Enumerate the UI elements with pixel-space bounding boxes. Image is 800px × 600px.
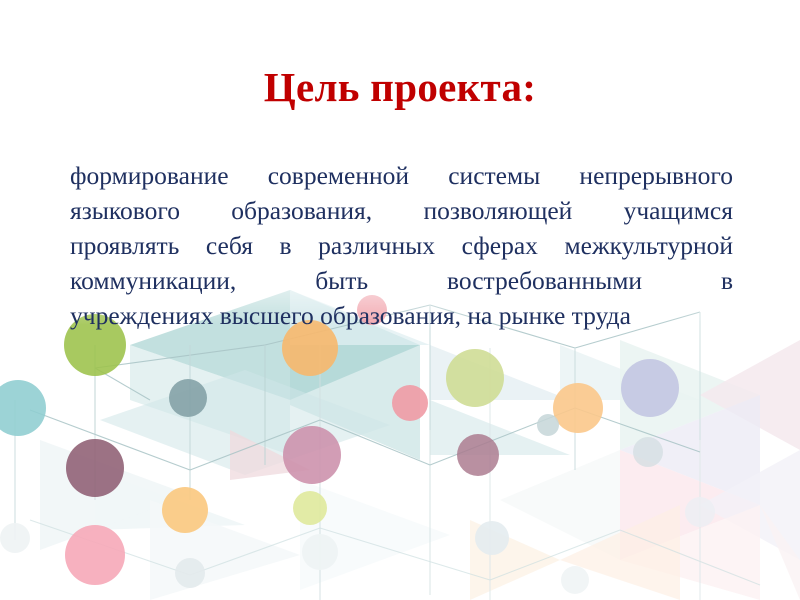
slide-content: Цель проекта: формирование современной с… [0, 0, 800, 600]
body-word: языкового [70, 193, 180, 228]
body-line-1: формирование современной системы непреры… [70, 158, 733, 193]
body-word: современной [268, 158, 409, 193]
body-text-block: формирование современной системы непреры… [70, 158, 733, 333]
body-word: коммуникации, [70, 263, 236, 298]
body-word: в [280, 228, 292, 263]
body-line-3: проявлять себя в различных сферах межкул… [70, 228, 733, 263]
body-word: образования, [231, 193, 372, 228]
page-title: Цель проекта: [0, 66, 800, 109]
body-word: быть [315, 263, 368, 298]
body-word: сферах [462, 228, 538, 263]
body-line-4: коммуникации, быть востребованными в [70, 263, 733, 298]
body-word: себя [206, 228, 253, 263]
body-word: востребованными [447, 263, 642, 298]
body-word: различных [318, 228, 435, 263]
body-word: позволяющей [423, 193, 572, 228]
body-word: проявлять [70, 228, 179, 263]
body-word: формирование [70, 158, 229, 193]
body-line-5: учреждениях высшего образования, на рынк… [70, 298, 733, 333]
body-word: учащимся [624, 193, 733, 228]
body-line-2: языкового образования, позволяющей учащи… [70, 193, 733, 228]
body-word: системы [448, 158, 540, 193]
presentation-slide: Цель проекта: формирование современной с… [0, 0, 800, 600]
body-word: в [721, 263, 733, 298]
body-word: непрерывного [579, 158, 733, 193]
body-word: межкультурной [565, 228, 733, 263]
